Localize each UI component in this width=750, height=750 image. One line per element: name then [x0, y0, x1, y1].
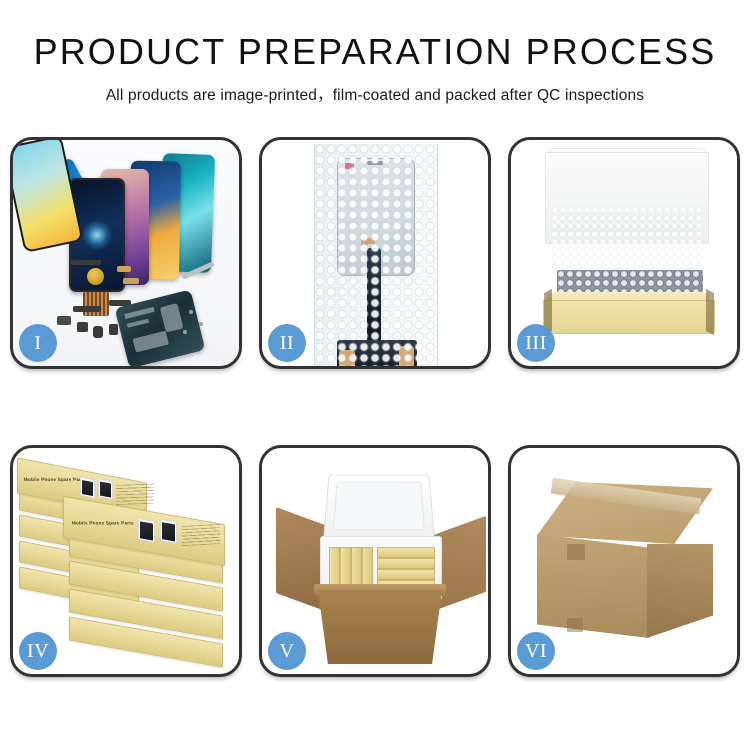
part-strip-2: [73, 306, 101, 312]
box-art-screen-b2: [160, 519, 177, 544]
box-spec-lines-b: [182, 524, 220, 546]
screw-2: [199, 322, 203, 326]
carton-side-face: [647, 544, 713, 638]
chip-component: [83, 292, 109, 316]
process-step-6[interactable]: VI: [508, 445, 740, 677]
carton-body: [318, 590, 442, 664]
box-spec-lines-a: [116, 484, 154, 505]
yellow-box-h2: [377, 558, 435, 569]
retail-box-label-front: Mobile Phone Spare Parts: [72, 520, 135, 525]
part-block-1: [77, 322, 88, 332]
carton-front-face: [537, 534, 649, 638]
carton-tab-lower: [567, 618, 583, 632]
process-step-4[interactable]: Mobile Phone Spare Parts Mobile Phone Sp…: [10, 445, 242, 677]
screw-1: [189, 310, 193, 314]
box-art-screen-b1: [138, 518, 155, 543]
box-art-screen-a1: [80, 477, 95, 499]
box-art-screen-a2: [98, 478, 113, 500]
part-block-4: [57, 316, 71, 325]
yellow-box-h3: [377, 569, 435, 580]
process-step-2[interactable]: II: [259, 137, 491, 369]
process-step-1[interactable]: I: [10, 137, 242, 369]
part-strip-1: [71, 260, 101, 265]
phone-front-yellow: [13, 140, 84, 253]
header: PRODUCT PREPARATION PROCESS All products…: [0, 0, 750, 105]
bubble-texture: [315, 144, 437, 366]
process-step-5[interactable]: V: [259, 445, 491, 677]
step-5-numeral: V: [268, 632, 306, 670]
step-1-numeral: I: [19, 324, 57, 362]
infographic-page: PRODUCT PREPARATION PROCESS All products…: [0, 0, 750, 750]
step-2-numeral: II: [268, 324, 306, 362]
screw-3: [183, 330, 187, 334]
foam-lid: [323, 475, 435, 539]
part-block-2: [93, 326, 103, 338]
flex-cable-2: [123, 278, 139, 284]
process-step-grid: I II: [10, 137, 740, 677]
retail-box-label-rear: Mobile Phone Spare Parts: [24, 477, 86, 482]
part-block-3: [109, 324, 118, 335]
process-step-3[interactable]: III: [508, 137, 740, 369]
carton-tab-upper: [567, 544, 585, 560]
step-6-numeral: VI: [517, 632, 555, 670]
step-3-numeral: III: [517, 324, 555, 362]
step-4-numeral: IV: [19, 632, 57, 670]
bubble-wrap-pouch: [314, 144, 438, 366]
box-base-yellow: [543, 300, 715, 334]
yellow-box-h1: [377, 547, 435, 558]
page-subtitle: All products are image-printed，film-coat…: [0, 83, 750, 105]
foam-sheet: [551, 206, 703, 274]
page-title: PRODUCT PREPARATION PROCESS: [0, 34, 750, 70]
coil-component: [87, 268, 104, 285]
flex-cable-1: [117, 266, 131, 272]
